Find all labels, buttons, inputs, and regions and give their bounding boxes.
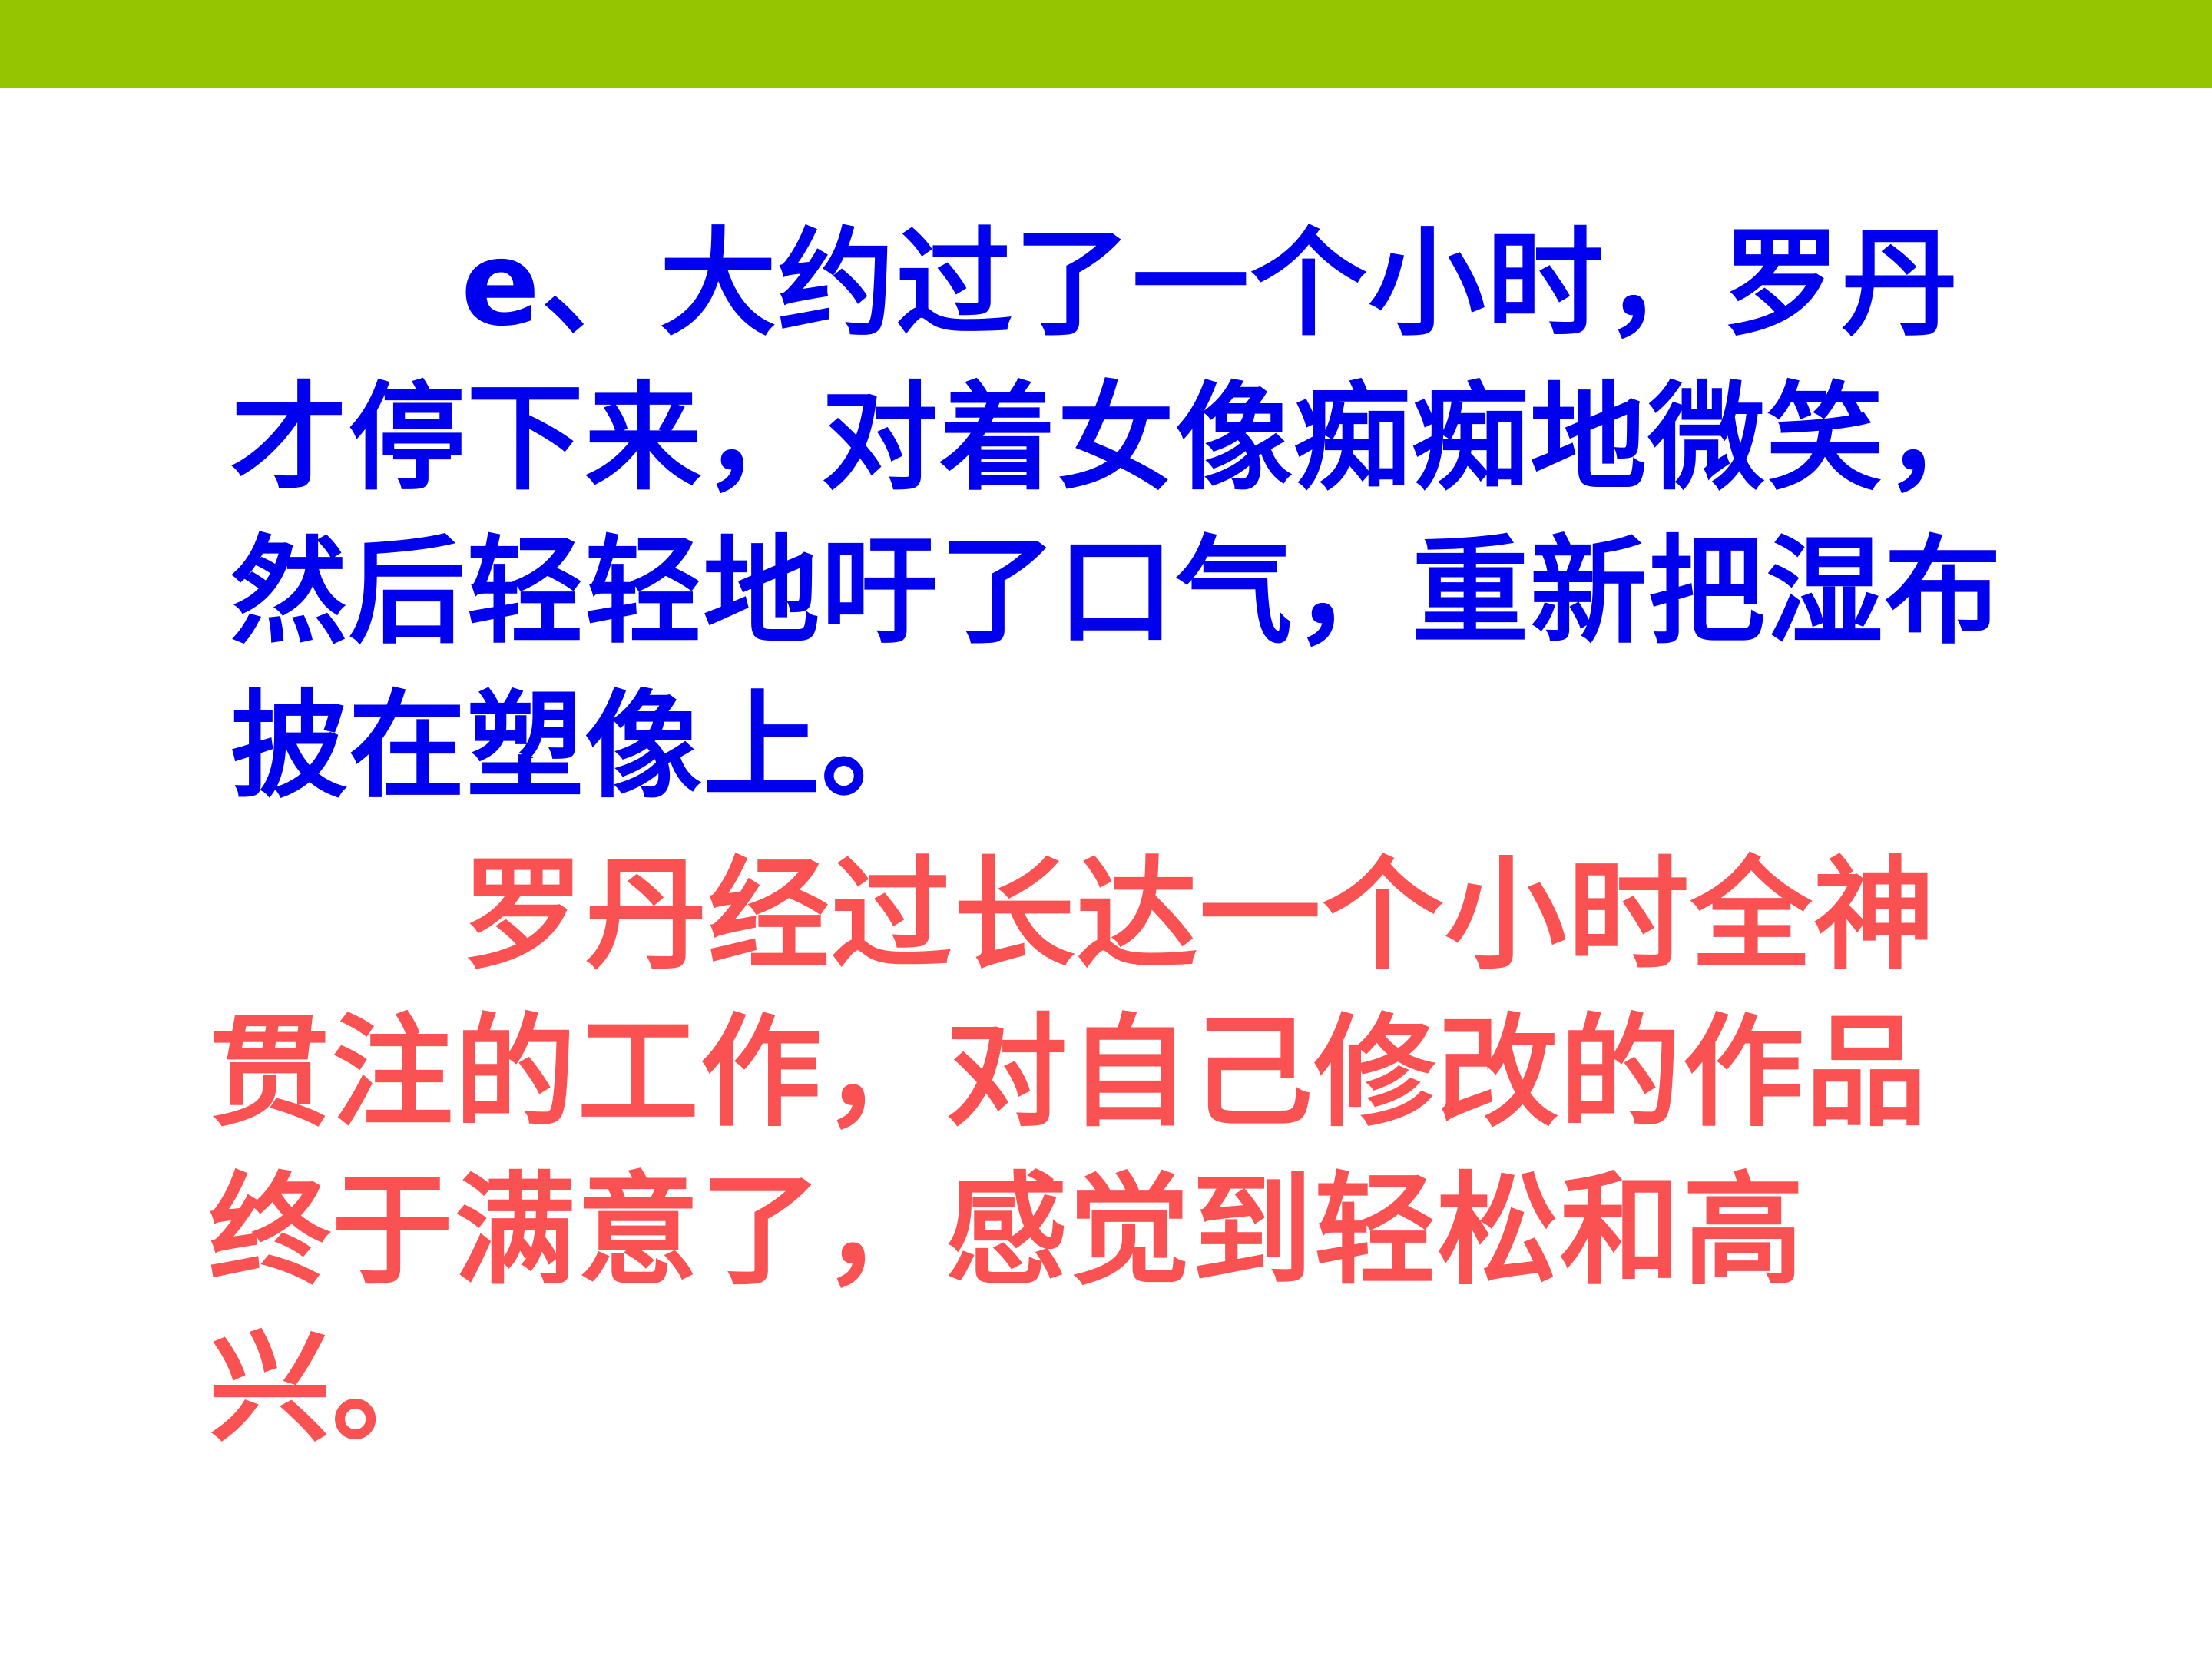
slide-canvas: e、大约过了一个小时，罗丹才停下来，对着女像痴痴地微笑，然后轻轻地吁了口气，重新… [0, 0, 2212, 1659]
top-green-band [0, 0, 2212, 88]
red-paragraph: 罗丹经过长达一个小时全神贯注的工作，对自己修改的作品终于满意了，感觉到轻松和高兴… [209, 837, 2029, 1469]
slide-content: e、大约过了一个小时，罗丹才停下来，对着女像痴痴地微笑，然后轻轻地吁了口气，重新… [0, 88, 2212, 1659]
blue-paragraph: e、大约过了一个小时，罗丹才停下来，对着女像痴痴地微笑，然后轻轻地吁了口气，重新… [230, 207, 2020, 824]
